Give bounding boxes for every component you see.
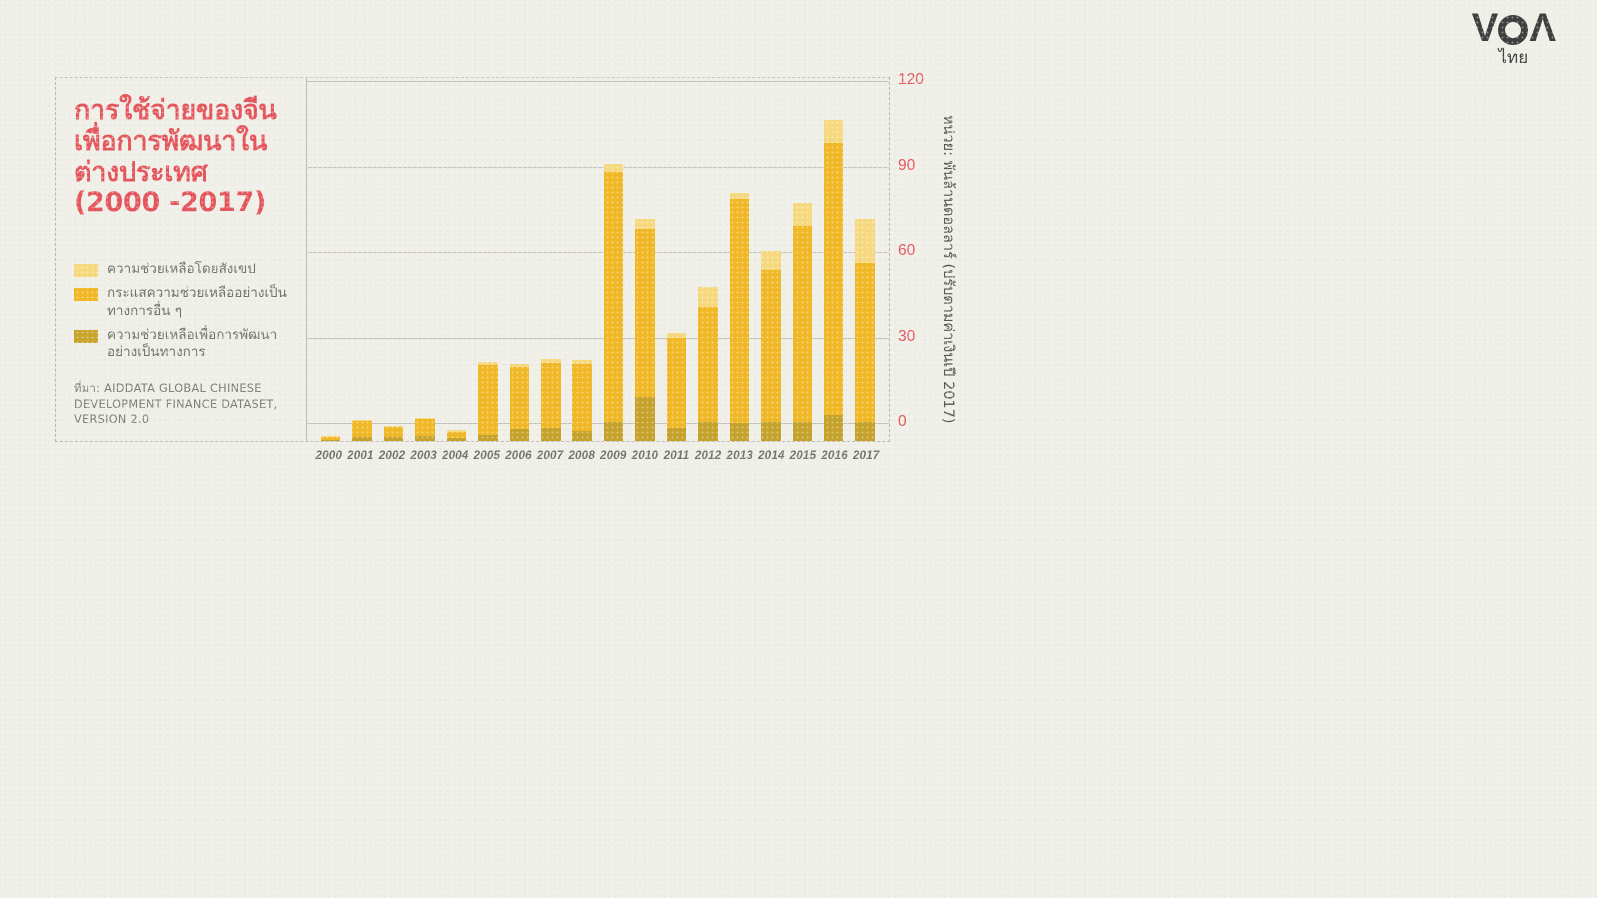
bar-segment-กระแสควา <box>510 367 529 429</box>
bar-segment-กระแสควา <box>824 143 843 415</box>
x-axis-tick-2013: 2013 <box>724 449 756 462</box>
bar-segment-ความช่วย <box>761 422 780 441</box>
bar-group-2004[interactable] <box>441 78 472 441</box>
y-axis-tick: 120 <box>898 71 924 89</box>
stacked-bar[interactable] <box>698 287 717 441</box>
stacked-bar[interactable] <box>855 219 874 441</box>
bar-segment-กระแสควา <box>572 364 591 431</box>
voa-wordmark: VΛ <box>1472 8 1555 48</box>
legend-label: กระแสความช่วยเหลืออย่างเป็นทางการอื่น ๆ <box>107 285 288 320</box>
bar-group-2013[interactable] <box>724 78 755 441</box>
x-axis-tick-2008: 2008 <box>566 449 598 462</box>
bar-group-2014[interactable] <box>755 78 786 441</box>
x-axis-tick-2011: 2011 <box>661 449 693 462</box>
x-axis-tick-2009: 2009 <box>597 449 629 462</box>
stacked-bar[interactable] <box>824 120 843 441</box>
x-axis-tick-2005: 2005 <box>471 449 503 462</box>
bar-group-2015[interactable] <box>787 78 818 441</box>
x-axis-tick-2014: 2014 <box>756 449 788 462</box>
bar-group-2006[interactable] <box>504 78 535 441</box>
bar-segment-ความช่วย <box>730 423 749 441</box>
stacked-bar[interactable] <box>667 333 686 441</box>
bar-segment-กระแสควา <box>635 229 654 397</box>
bar-segment-กระแสควา <box>541 363 560 428</box>
legend-item-oda: ความช่วยเหลือเพื่อการพัฒนาอย่างเป็นทางกา… <box>74 327 288 362</box>
x-axis-tick-2007: 2007 <box>534 449 566 462</box>
bar-segment-ความช่วย <box>604 164 623 173</box>
bar-segment-ความช่วย <box>415 436 434 441</box>
bar-group-2007[interactable] <box>535 78 566 441</box>
bar-segment-กระแสควา <box>730 199 749 424</box>
bar-series-container <box>307 78 889 441</box>
x-axis-tick-2010: 2010 <box>629 449 661 462</box>
bar-group-2011[interactable] <box>661 78 692 441</box>
bar-group-2008[interactable] <box>567 78 598 441</box>
stacked-bar[interactable] <box>447 430 466 441</box>
x-axis-tick-2015: 2015 <box>787 449 819 462</box>
legend-label: ความช่วยเหลือโดยสังเขป <box>107 261 256 278</box>
source-attribution: ที่มา: AIDDATA GLOBAL CHINESE DEVELOPMEN… <box>74 381 306 427</box>
x-axis-tick-2012: 2012 <box>692 449 724 462</box>
y-axis-title: หน่วย: พันล้านดอลลาร์ (ปรับตามค่าเงินเปี… <box>937 115 960 424</box>
bar-segment-กระแสควา <box>415 419 434 436</box>
bar-segment-กระแสควา <box>352 421 371 436</box>
bar-segment-ความช่วย <box>635 219 654 229</box>
bar-group-2005[interactable] <box>472 78 503 441</box>
stacked-bar[interactable] <box>635 219 654 441</box>
bar-segment-ความช่วย <box>824 415 843 441</box>
bar-segment-ความช่วย <box>824 120 843 143</box>
bar-segment-ความช่วย <box>667 428 686 441</box>
stacked-bar[interactable] <box>352 420 371 441</box>
bar-segment-ความช่วย <box>793 203 812 226</box>
bar-group-2010[interactable] <box>629 78 660 441</box>
bar-segment-ความช่วย <box>855 219 874 263</box>
bar-group-2017[interactable] <box>849 78 880 441</box>
bar-segment-กระแสควา <box>667 338 686 428</box>
voa-letter-v: V <box>1472 8 1498 48</box>
stacked-bar[interactable] <box>541 359 560 441</box>
bar-segment-ความช่วย <box>635 397 654 441</box>
x-axis-tick-2016: 2016 <box>819 449 851 462</box>
bar-group-2012[interactable] <box>692 78 723 441</box>
bar-segment-กระแสควา <box>698 307 717 423</box>
bar-segment-กระแสควา <box>478 365 497 435</box>
bar-segment-ความช่วย <box>321 440 340 441</box>
bar-group-2003[interactable] <box>409 78 440 441</box>
y-axis-tick: 30 <box>898 328 915 346</box>
bar-segment-ความช่วย <box>698 422 717 441</box>
bar-segment-ความช่วย <box>793 422 812 441</box>
bar-segment-กระแสควา <box>793 226 812 423</box>
bar-segment-ความช่วย <box>604 422 623 441</box>
bar-segment-ความช่วย <box>478 435 497 441</box>
bar-group-2001[interactable] <box>346 78 377 441</box>
legend-swatch-icon <box>74 288 98 301</box>
plot-area <box>306 78 889 441</box>
x-axis-tick-2003: 2003 <box>408 449 440 462</box>
bar-segment-กระแสควา <box>855 263 874 423</box>
x-axis-tick-2006: 2006 <box>503 449 535 462</box>
page-title: การใช้จ่ายของจีน เพื่อการพัฒนาใน ต่างประ… <box>74 96 288 219</box>
voa-letter-a: Λ <box>1529 8 1555 48</box>
x-axis-tick-row: 2000200120022003200420052006200720082009… <box>305 449 890 462</box>
y-axis-tick: 90 <box>898 157 915 175</box>
x-axis-tick-2001: 2001 <box>345 449 377 462</box>
chart-frame: การใช้จ่ายของจีน เพื่อการพัฒนาใน ต่างประ… <box>55 77 890 442</box>
bar-segment-ความช่วย <box>855 422 874 441</box>
stacked-bar[interactable] <box>793 203 812 441</box>
stacked-bar[interactable] <box>478 362 497 441</box>
bar-segment-ความช่วย <box>510 429 529 441</box>
y-axis-tick: 0 <box>898 413 907 431</box>
stacked-bar[interactable] <box>730 193 749 442</box>
bar-segment-ความช่วย <box>352 437 371 441</box>
bar-segment-ความช่วย <box>698 287 717 307</box>
x-axis-tick-2004: 2004 <box>439 449 471 462</box>
bar-segment-ความช่วย <box>761 251 780 270</box>
x-axis-tick-2017: 2017 <box>850 449 882 462</box>
bar-segment-กระแสควา <box>761 270 780 422</box>
bar-group-2002[interactable] <box>378 78 409 441</box>
legend-swatch-icon <box>74 330 98 343</box>
bar-group-2016[interactable] <box>818 78 849 441</box>
bar-segment-กระแสควา <box>604 172 623 421</box>
bar-segment-กระแสควา <box>384 427 403 437</box>
legend-label: ความช่วยเหลือเพื่อการพัฒนาอย่างเป็นทางกา… <box>107 327 288 362</box>
stacked-bar[interactable] <box>510 364 529 442</box>
legend-item-other-official-flows: กระแสความช่วยเหลืออย่างเป็นทางการอื่น ๆ <box>74 285 288 320</box>
stacked-bar[interactable] <box>384 426 403 441</box>
stacked-bar[interactable] <box>761 251 780 441</box>
bar-group-2000[interactable] <box>315 78 346 441</box>
legend-item-vague-aid: ความช่วยเหลือโดยสังเขป <box>74 261 288 278</box>
x-axis-tick-2000: 2000 <box>313 449 345 462</box>
stacked-bar[interactable] <box>321 436 340 441</box>
y-axis-tick: 60 <box>898 242 915 260</box>
bar-segment-ความช่วย <box>541 428 560 441</box>
bar-group-2009[interactable] <box>598 78 629 441</box>
bar-segment-กระแสควา <box>447 432 466 439</box>
stacked-bar[interactable] <box>415 418 434 441</box>
stacked-bar[interactable] <box>572 360 591 441</box>
bar-segment-ความช่วย <box>447 438 466 441</box>
info-panel: การใช้จ่ายของจีน เพื่อการพัฒนาใน ต่างประ… <box>56 78 306 441</box>
stacked-bar[interactable] <box>604 164 623 441</box>
chart-legend: ความช่วยเหลือโดยสังเขป กระแสความช่วยเหลื… <box>74 261 288 361</box>
voa-letter-o <box>1498 15 1528 45</box>
voa-logo: VΛ ไทย <box>1472 8 1555 71</box>
x-axis-tick-2002: 2002 <box>376 449 408 462</box>
bar-segment-ความช่วย <box>384 437 403 441</box>
bar-segment-ความช่วย <box>572 431 591 441</box>
legend-swatch-icon <box>74 264 98 277</box>
